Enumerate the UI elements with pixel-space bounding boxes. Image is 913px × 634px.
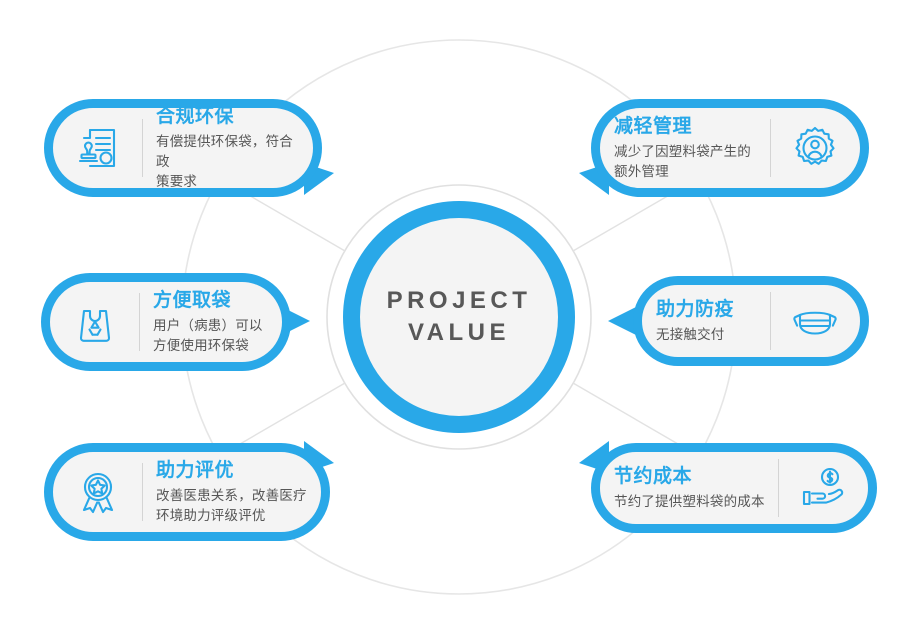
card-divider [139,293,140,351]
card-compliance-environment[interactable]: 合规环保 有偿提供环保袋，符合政 策要求 [44,99,322,197]
card-divider [778,459,779,517]
card-description: 节约了提供塑料袋的成本 [614,492,765,512]
card-title: 节约成本 [614,464,765,490]
center-hub: PROJECT VALUE [343,201,575,433]
face-mask-icon [784,290,846,352]
hand-coin-icon [792,457,854,519]
card-description: 减少了因塑料袋产生的 额外管理 [614,142,757,182]
card-divider [142,463,143,521]
card-description: 改善医患关系，改善医疗 环境助力评级评优 [156,486,307,526]
center-title: PROJECT VALUE [387,285,532,348]
card-divider [770,119,771,177]
card-cost-saving[interactable]: 节约成本 节约了提供塑料袋的成本 [591,443,877,533]
card-description: 无接触交付 [656,325,757,345]
stamped-document-icon [67,117,129,179]
recycle-bag-icon [64,291,126,353]
card-divider [142,119,143,177]
card-description: 用户（病患）可以 方便使用环保袋 [153,316,268,356]
card-epidemic-prevention[interactable]: 助力防疫 无接触交付 [633,276,869,366]
gear-person-icon [784,117,846,179]
card-title: 减轻管理 [614,114,757,140]
card-title: 方便取袋 [153,288,268,314]
card-reduce-management[interactable]: 减轻管理 减少了因塑料袋产生的 额外管理 [591,99,869,197]
card-description: 有偿提供环保袋，符合政 策要求 [156,132,299,192]
infographic-canvas: PROJECT VALUE 合规环保 有偿提供环 [0,0,913,634]
card-convenient-bag[interactable]: 方便取袋 用户（病患）可以 方便使用环保袋 [41,273,291,371]
card-divider [770,292,771,350]
card-title: 合规环保 [156,104,299,130]
card-title: 助力防疫 [656,297,757,323]
card-title: 助力评优 [156,458,307,484]
card-rating-excellence[interactable]: 助力评优 改善医患关系，改善医疗 环境助力评级评优 [44,443,330,541]
medal-ribbon-icon [67,461,129,523]
